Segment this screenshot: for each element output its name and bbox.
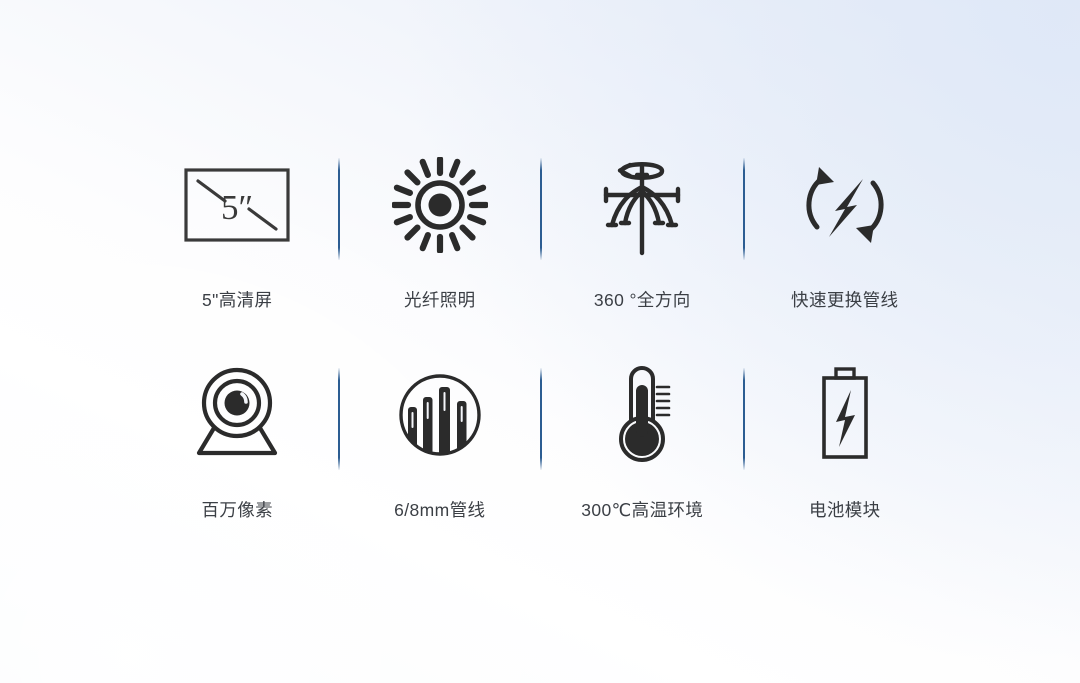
- camera-megapixel-icon: [187, 365, 287, 465]
- battery-module-icon: [814, 365, 876, 465]
- feature-cell-cable-size[interactable]: 6/8mm管线: [339, 356, 542, 520]
- svg-text:5″: 5″: [221, 188, 253, 227]
- icon-container: [795, 146, 895, 264]
- icon-container: 5″: [183, 146, 291, 264]
- feature-cell-quick-swap[interactable]: 快速更换管线: [744, 146, 947, 310]
- rotation-360-icon: [590, 153, 694, 257]
- icon-container: [590, 146, 694, 264]
- feature-cell-temperature[interactable]: 300℃高温环境: [541, 356, 744, 520]
- feature-board: 5″ 5"高清屏: [0, 0, 1080, 683]
- icon-container: [392, 146, 488, 264]
- icon-container: [814, 356, 876, 474]
- feature-label: 百万像素: [201, 502, 273, 520]
- feature-label: 300℃高温环境: [581, 502, 703, 520]
- feature-cell-camera[interactable]: 百万像素: [136, 356, 339, 520]
- feature-label: 光纤照明: [404, 292, 476, 310]
- icon-container: [390, 356, 490, 474]
- feature-cell-lighting[interactable]: 光纤照明: [339, 146, 542, 310]
- feature-label: 电池模块: [809, 502, 881, 520]
- thermometer-icon: [605, 363, 679, 467]
- feature-row-1: 5″ 5"高清屏: [136, 146, 946, 310]
- screen-5-inch-icon: 5″: [183, 167, 291, 243]
- feature-label: 360 °全方向: [594, 292, 691, 310]
- feature-label: 6/8mm管线: [394, 502, 485, 520]
- cable-diameter-icon: [390, 365, 490, 465]
- icon-container: [187, 356, 287, 474]
- feature-cell-battery[interactable]: 电池模块: [744, 356, 947, 520]
- feature-label: 5"高清屏: [202, 292, 272, 310]
- feature-label: 快速更换管线: [791, 292, 898, 310]
- quick-swap-cable-icon: [795, 155, 895, 255]
- feature-cell-rotation[interactable]: 360 °全方向: [541, 146, 744, 310]
- icon-container: [605, 356, 679, 474]
- feature-cell-screen[interactable]: 5″ 5"高清屏: [136, 146, 339, 310]
- feature-grid: 5″ 5"高清屏: [0, 0, 1080, 683]
- feature-row-2: 百万像素: [136, 356, 946, 520]
- sun-fiber-light-icon: [392, 157, 488, 253]
